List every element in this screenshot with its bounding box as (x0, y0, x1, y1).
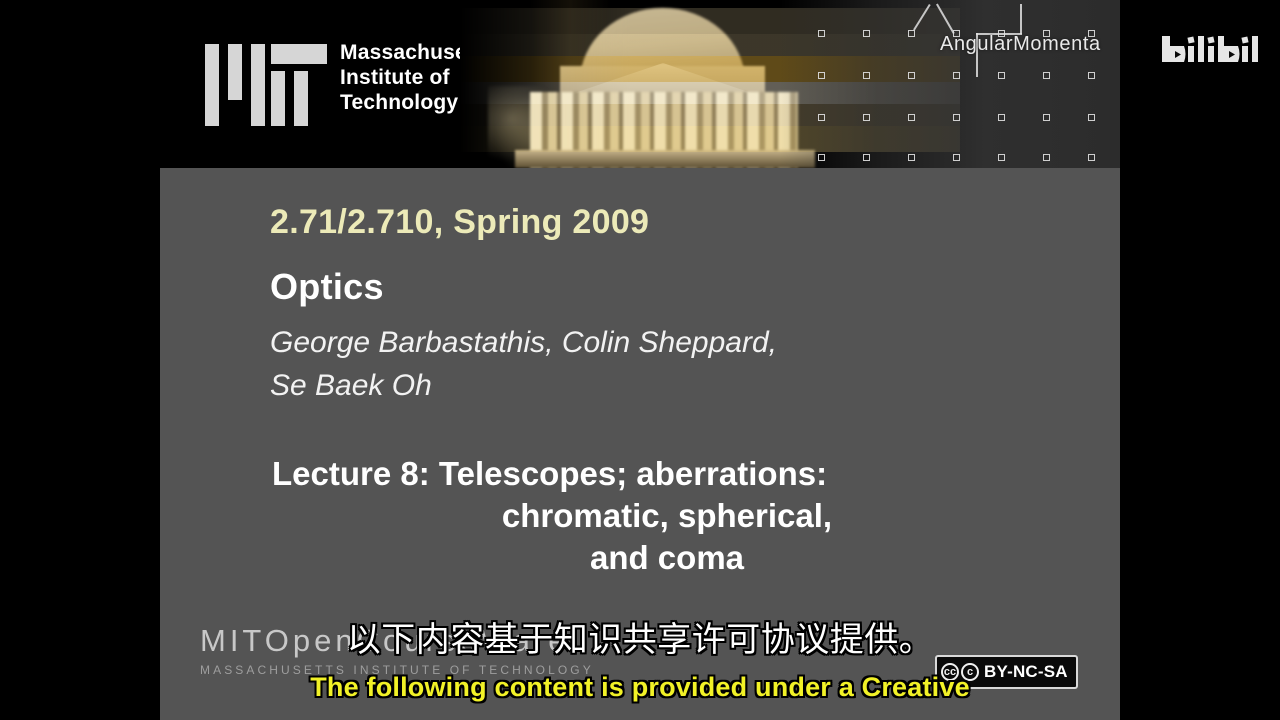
uploader-watermark: AngularMomenta (940, 33, 1101, 56)
mit-logo-icon (205, 38, 327, 126)
subtitle-english: The following content is provided under … (160, 672, 1120, 703)
lecture-title-line-1: Lecture 8: Telescopes; aberrations: (272, 453, 1062, 495)
letterbox-bar-left (0, 0, 160, 720)
author-line-1: George Barbastathis, Colin Sheppard, (270, 321, 1030, 364)
lecture-title-line-3: and coma (272, 537, 1062, 579)
dot-matrix-graphic (800, 4, 1120, 168)
course-title: Optics (270, 266, 384, 308)
lecture-title: Lecture 8: Telescopes; aberrations: chro… (272, 453, 1062, 579)
bilibili-logo-icon (1160, 32, 1264, 74)
video-player-stage: Massachusetts Institute of Technology (0, 0, 1280, 720)
slide-header-banner: Massachusetts Institute of Technology (160, 0, 1120, 168)
course-number-term: 2.71/2.710, Spring 2009 (270, 203, 649, 242)
author-line-2: Se Baek Oh (270, 364, 1030, 407)
letterbox-bar-right (1120, 0, 1280, 720)
lecture-title-line-2: chromatic, spherical, (272, 495, 1062, 537)
author-list: George Barbastathis, Colin Sheppard, Se … (270, 321, 1030, 407)
subtitle-chinese: 以下内容基于知识共享许可协议提供。 (160, 612, 1120, 661)
